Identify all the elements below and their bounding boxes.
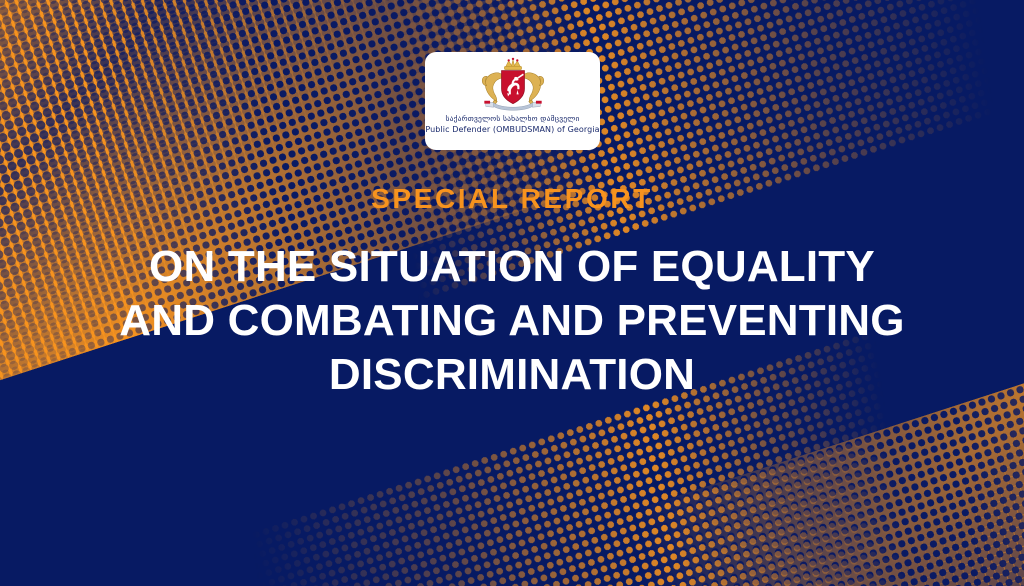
report-cover-page: საქართველოს სახალხო დამცველი Public Defe… (0, 0, 1024, 586)
title-line-1: ON THE SITUATION OF EQUALITY (0, 240, 1024, 294)
page-title: ON THE SITUATION OF EQUALITY AND COMBATI… (0, 240, 1024, 402)
title-line-2: AND COMBATING AND PREVENTING (0, 294, 1024, 348)
title-line-3: DISCRIMINATION (0, 348, 1024, 402)
report-kicker: SPECIAL REPORT (0, 183, 1024, 215)
logo-text-english: Public Defender (OMBUDSMAN) of Georgia (425, 125, 599, 134)
logo-text-georgian: საქართველოს სახალხო დამცველი (445, 114, 579, 123)
georgia-coat-of-arms-icon (470, 57, 556, 113)
organization-logo-card: საქართველოს სახალხო დამცველი Public Defe… (425, 52, 600, 150)
